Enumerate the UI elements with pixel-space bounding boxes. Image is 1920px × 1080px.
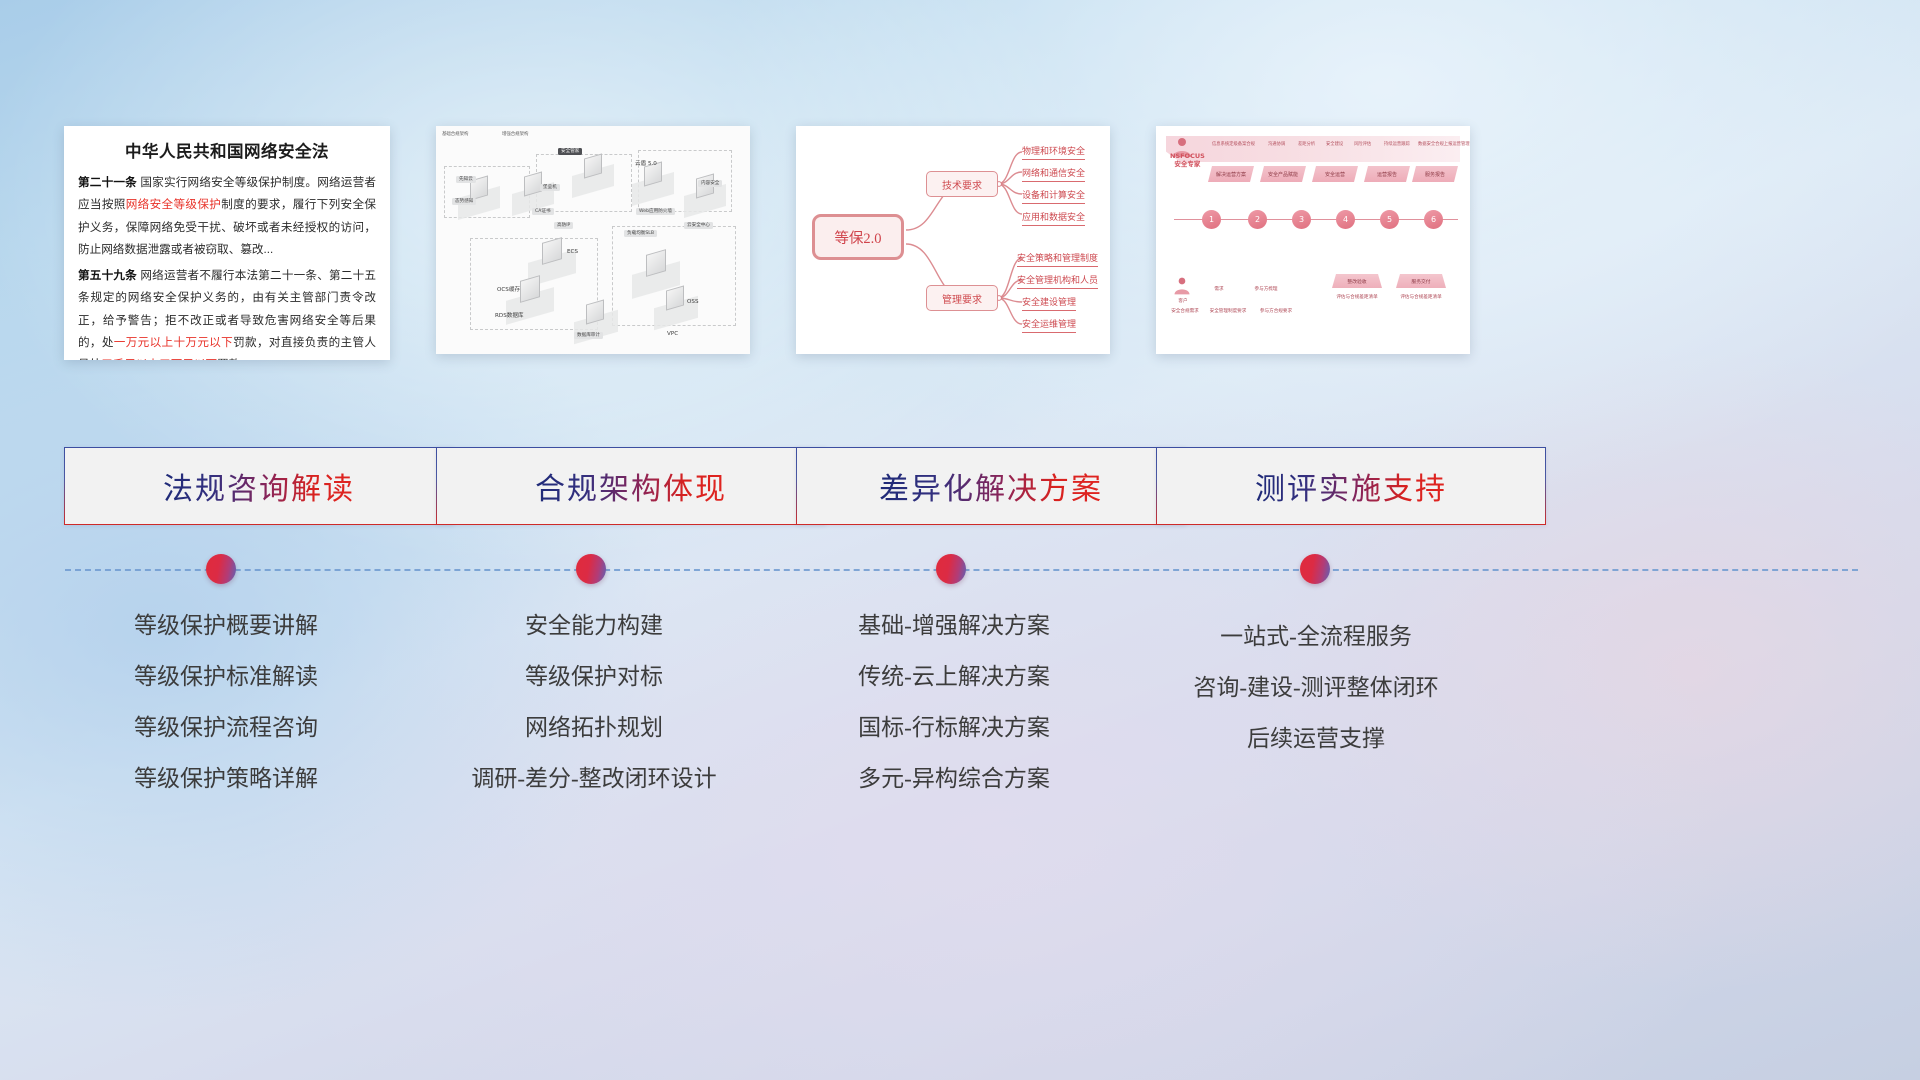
arch-label-yundun: 云盾 5.0 (632, 160, 660, 169)
list-item: 咨询-建设-测评整体闭环 (1156, 662, 1476, 713)
category-header-row: 法规咨询解读 合规架构体现 差异化解决方案 测评实施支持 (0, 447, 1920, 525)
roadmap-trap-delivery: 服务交付 (1396, 274, 1446, 288)
timeline-dot-1[interactable] (206, 554, 236, 584)
roadmap-bottom-tag-participants: 参与方梳理 (1242, 286, 1290, 292)
header-assessment-support-label: 测评实施支持 (1255, 464, 1447, 508)
arch-label-situation-awareness: 态势感知 (452, 198, 476, 205)
roadmap-step-4: 4 (1336, 210, 1355, 229)
arch-label-oss: OSS (684, 298, 702, 307)
roadmap-bottom-sub-0: 安全合规需求 (1164, 308, 1206, 314)
roadmap-bottom-sub-4: 评估与合规差距清单 (1390, 294, 1452, 300)
header-differentiated-solution[interactable]: 差异化解决方案 (796, 447, 1186, 525)
law-article-59: 第五十九条 网络运营者不履行本法第二十一条、第二十五条规定的网络安全保护义务的，… (78, 265, 376, 360)
roadmap-step-5: 5 (1380, 210, 1399, 229)
arch-label-bastion-host: 堡垒机 (540, 184, 560, 191)
roadmap-hcell-0: 信息系统定级备案合规 (1212, 141, 1255, 147)
mindmap-leaf-device-compute: 设备和计算安全 (1022, 188, 1085, 204)
thumbnail-card-row: 中华人民共和国网络安全法 第二十一条 国家实行网络安全等级保护制度。网络运营者应… (0, 126, 1920, 362)
article-59-highlight-1: 一万元以上十万元以下 (114, 336, 233, 349)
mindmap-leaf-org-personnel: 安全管理机构和人员 (1017, 273, 1098, 289)
law-card-title: 中华人民共和国网络安全法 (78, 138, 376, 162)
arch-header-right: 增强合规架构 (502, 131, 528, 137)
arch-label-ocs: OCS缓存 (494, 286, 523, 295)
list-item: 等级保护流程咨询 (64, 702, 388, 753)
roadmap-hcell-6: 数据安全合规上报运营管理 (1418, 141, 1470, 147)
arch-label-xianzhiyun: 先知云 (456, 176, 476, 183)
list-item: 后续运营支撑 (1156, 713, 1476, 764)
arch-label-vpc: VPC (664, 330, 681, 339)
mindmap-branch-management: 管理要求 (926, 285, 998, 311)
arch-label-cloud-security-center: 云安全中心 (684, 222, 713, 229)
header-regulation-consulting-label: 法规咨询解读 (163, 464, 355, 508)
mindmap-leaf-policy-system: 安全策略和管理制度 (1017, 251, 1098, 267)
roadmap-bottom-sub-1: 安全管理制度要求 (1202, 308, 1254, 314)
timeline (0, 540, 1920, 600)
header-compliance-architecture[interactable]: 合规架构体现 (436, 447, 826, 525)
article-59-highlight-2: 五千元以上五万元以下 (101, 358, 217, 360)
roadmap-pillar-2: 安全运营 (1312, 166, 1358, 182)
page-root: 中华人民共和国网络安全法 第二十一条 国家实行网络安全等级保护制度。网络运营者应… (0, 0, 1920, 1080)
roadmap-canvas: NSFOCUS 安全专家 信息系统定级备案合规 沟通协调 差距分析 安全建设 风… (1156, 126, 1470, 354)
law-card-body: 中华人民共和国网络安全法 第二十一条 国家实行网络安全等级保护制度。网络运营者应… (64, 126, 390, 360)
list-item: 传统-云上解决方案 (796, 651, 1112, 702)
roadmap-brand-line2: 安全专家 (1170, 160, 1205, 168)
arch-label-content-security: 内容安全 (698, 180, 722, 187)
list-item: 一站式-全流程服务 (1156, 611, 1476, 662)
list-item: 基础-增强解决方案 (796, 600, 1112, 651)
customer-avatar-icon (1172, 276, 1192, 296)
architecture-canvas: 基础合规架构 增强合规架构 安全管家 (436, 126, 750, 354)
law-article-21: 第二十一条 国家实行网络安全等级保护制度。网络运营者应当按照网络安全等级保护制度… (78, 172, 376, 261)
list-item: 国标-行标解决方案 (796, 702, 1112, 753)
column-compliance-architecture: 安全能力构建 等级保护对标 网络拓扑规划 调研-差分-整改闭环设计 (436, 600, 752, 804)
list-item: 等级保护对标 (436, 651, 752, 702)
cloud-architecture-thumbnail[interactable]: 基础合规架构 增强合规架构 安全管家 (436, 126, 750, 354)
mindmap-leaf-physical-env: 物理和环境安全 (1022, 144, 1085, 160)
list-item: 安全能力构建 (436, 600, 752, 651)
mindmap-root-node: 等保2.0 (812, 214, 904, 260)
list-item: 多元-异构综合方案 (796, 753, 1112, 804)
roadmap-trap-acceptance: 整改验收 (1332, 274, 1382, 288)
roadmap-hcell-2: 差距分析 (1298, 141, 1315, 147)
list-item: 网络拓扑规划 (436, 702, 752, 753)
header-differentiated-solution-label: 差异化解决方案 (879, 464, 1103, 508)
arch-header-left: 基础合规架构 (442, 131, 468, 137)
arch-label-slb: 负载均衡SLB (624, 230, 657, 237)
roadmap-step-1: 1 (1202, 210, 1221, 229)
roadmap-bottom-sub-2: 参与方合规要求 (1254, 308, 1298, 314)
dengbao-mindmap-thumbnail[interactable]: 等保2.0 技术要求 管理要求 物理和环境安全 网络和通信安全 设备和计算安全 … (796, 126, 1110, 354)
header-compliance-architecture-label: 合规架构体现 (535, 464, 727, 508)
list-item: 等级保护策略详解 (64, 753, 388, 804)
roadmap-hcell-1: 沟通协调 (1268, 141, 1285, 147)
timeline-dot-3[interactable] (936, 554, 966, 584)
list-item: 调研-差分-整改闭环设计 (436, 753, 752, 804)
timeline-dot-2[interactable] (576, 554, 606, 584)
roadmap-pillar-4: 服务报告 (1412, 166, 1458, 182)
mindmap-leaf-construction-mgmt: 安全建设管理 (1022, 295, 1076, 311)
mindmap-leaf-ops-mgmt: 安全运维管理 (1022, 317, 1076, 333)
header-regulation-consulting[interactable]: 法规咨询解读 (64, 447, 454, 525)
roadmap-header-band (1166, 136, 1460, 162)
roadmap-pillar-3: 运营报告 (1364, 166, 1410, 182)
column-regulation-consulting: 等级保护概要讲解 等级保护标准解读 等级保护流程咨询 等级保护策略详解 (64, 600, 388, 804)
article-21-highlight: 网络安全等级保护 (126, 198, 221, 211)
arch-label-ca-cert: CA证书 (532, 208, 554, 215)
mindmap-branch-technical: 技术要求 (926, 171, 998, 197)
roadmap-pillar-1: 安全产品赋能 (1260, 166, 1306, 182)
roadmap-hcell-5: 持续运营跟踪 (1384, 141, 1410, 147)
roadmap-brand: NSFOCUS 安全专家 (1170, 152, 1205, 168)
header-assessment-support[interactable]: 测评实施支持 (1156, 447, 1546, 525)
arch-label-anti-ddos-ip: 高防IP (554, 222, 573, 229)
roadmap-bottom-tag-demand: 需求 (1204, 286, 1234, 292)
article-59-label: 第五十九条 (78, 269, 137, 282)
mindmap-leaf-network-comm: 网络和通信安全 (1022, 166, 1085, 182)
arch-badge-security-steward: 安全管家 (558, 148, 582, 155)
roadmap-pillar-0: 解决运营方案 (1208, 166, 1254, 182)
arch-label-waf: Web应用防火墙 (636, 208, 675, 215)
arch-label-rds: RDS数据库 (492, 312, 527, 321)
law-excerpt-card[interactable]: 中华人民共和国网络安全法 第二十一条 国家实行网络安全等级保护制度。网络运营者应… (64, 126, 390, 360)
detail-column-row: 等级保护概要讲解 等级保护标准解读 等级保护流程咨询 等级保护策略详解 安全能力… (0, 600, 1920, 830)
roadmap-brand-line1: NSFOCUS (1170, 152, 1205, 160)
roadmap-step-2: 2 (1248, 210, 1267, 229)
nsfocus-roadmap-thumbnail[interactable]: NSFOCUS 安全专家 信息系统定级备案合规 沟通协调 差距分析 安全建设 风… (1156, 126, 1470, 354)
timeline-dot-4[interactable] (1300, 554, 1330, 584)
list-item: 等级保护概要讲解 (64, 600, 388, 651)
arch-label-db-audit: 数据库审计 (574, 332, 603, 339)
article-59-text-3: 罚款。 (217, 358, 252, 360)
arch-label-ecs: ECS (564, 248, 581, 257)
roadmap-step-3: 3 (1292, 210, 1311, 229)
roadmap-step-6: 6 (1424, 210, 1443, 229)
roadmap-bottom-tag-customer: 客户 (1170, 298, 1196, 304)
mindmap-leaf-app-data: 应用和数据安全 (1022, 210, 1085, 226)
article-21-label: 第二十一条 (78, 176, 137, 189)
roadmap-hcell-3: 安全建设 (1326, 141, 1343, 147)
roadmap-hcell-4: 风险评估 (1354, 141, 1371, 147)
mindmap-canvas: 等保2.0 技术要求 管理要求 物理和环境安全 网络和通信安全 设备和计算安全 … (796, 126, 1110, 354)
list-item: 等级保护标准解读 (64, 651, 388, 702)
roadmap-bottom-sub-3: 评估与合规差距清单 (1326, 294, 1388, 300)
column-differentiated-solution: 基础-增强解决方案 传统-云上解决方案 国标-行标解决方案 多元-异构综合方案 (796, 600, 1112, 804)
column-assessment-support: 一站式-全流程服务 咨询-建设-测评整体闭环 后续运营支撑 (1156, 600, 1476, 764)
